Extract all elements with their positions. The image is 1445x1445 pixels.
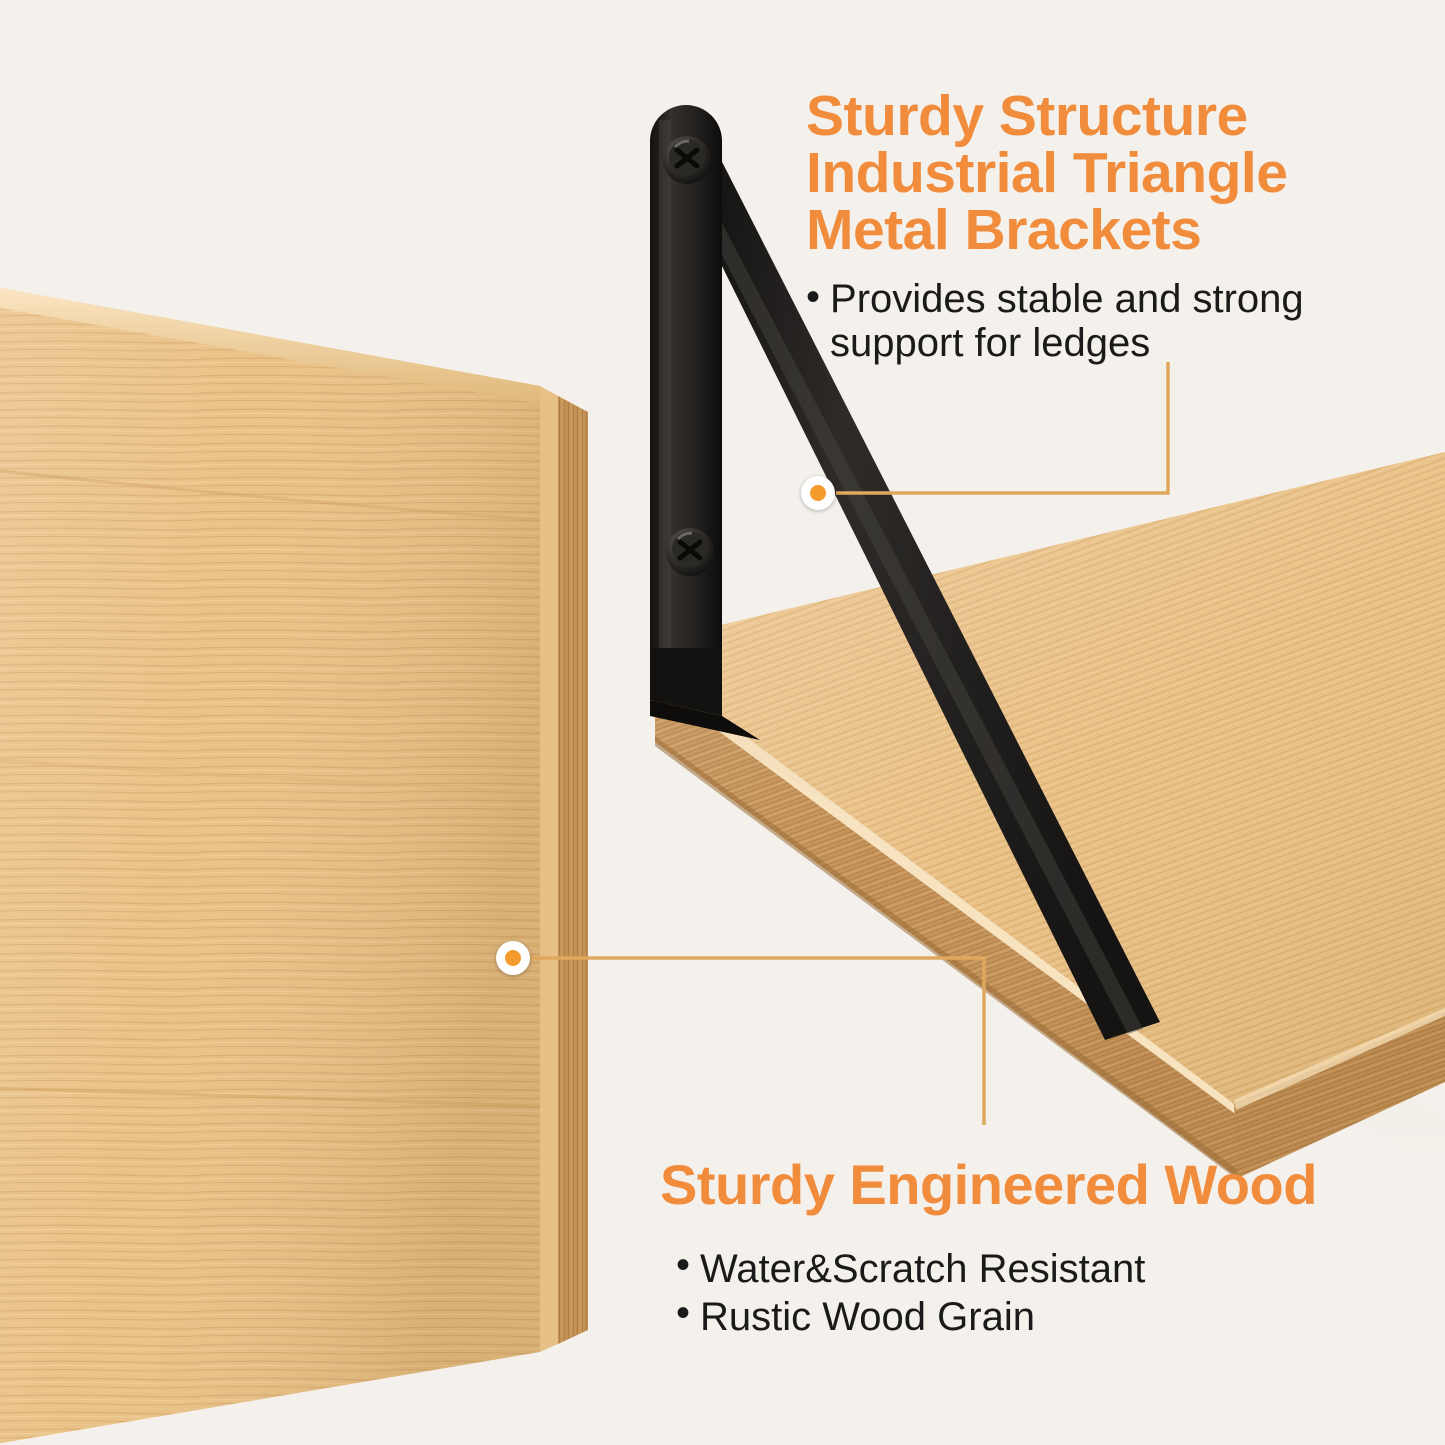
board-right-edge-shading: [558, 396, 588, 1344]
bottom-feature-text-block: Sturdy Engineered Wood • Water&Scratch R…: [660, 1155, 1430, 1341]
top-heading-line-3: Metal Brackets: [806, 202, 1406, 259]
bracket-strap-highlight: [659, 120, 671, 648]
top-heading-line-1: Sturdy Structure: [806, 88, 1406, 145]
top-feature-text-block: Sturdy Structure Industrial Triangle Met…: [806, 88, 1406, 365]
bullet-item: • Water&Scratch Resistant: [676, 1245, 1430, 1293]
bullet-item: • Provides stable and strong support for…: [806, 277, 1406, 365]
bullet-item: • Rustic Wood Grain: [676, 1293, 1430, 1341]
callout-dot-bracket[interactable]: [801, 476, 835, 510]
bullet-dot-icon: •: [676, 1293, 690, 1333]
board-front-shading: [0, 286, 540, 1445]
bullet-text: Provides stable and strong support for l…: [830, 277, 1406, 365]
bottom-feature-bullets: • Water&Scratch Resistant • Rustic Wood …: [660, 1245, 1430, 1341]
top-feature-bullets: • Provides stable and strong support for…: [806, 277, 1406, 365]
bullet-text: Water&Scratch Resistant: [700, 1245, 1430, 1293]
board-right-bevel: [540, 386, 558, 1352]
infographic-canvas: Sturdy Structure Industrial Triangle Met…: [0, 0, 1445, 1445]
connector-line-wood: [531, 958, 984, 1125]
bottom-heading-line-1: Sturdy Engineered Wood: [660, 1155, 1430, 1215]
connector-line-bracket: [836, 362, 1168, 493]
top-heading-line-2: Industrial Triangle: [806, 145, 1406, 202]
bracket-screw-top: [663, 136, 711, 184]
bottom-feature-heading: Sturdy Engineered Wood: [660, 1155, 1430, 1215]
callout-dot-wood[interactable]: [496, 941, 530, 975]
bullet-dot-icon: •: [676, 1245, 690, 1285]
bullet-dot-icon: •: [806, 277, 820, 317]
bracket-screw-bottom: [666, 528, 714, 576]
vertical-wood-board: [0, 286, 588, 1445]
top-feature-heading: Sturdy Structure Industrial Triangle Met…: [806, 88, 1406, 259]
bullet-text: Rustic Wood Grain: [700, 1293, 1430, 1341]
